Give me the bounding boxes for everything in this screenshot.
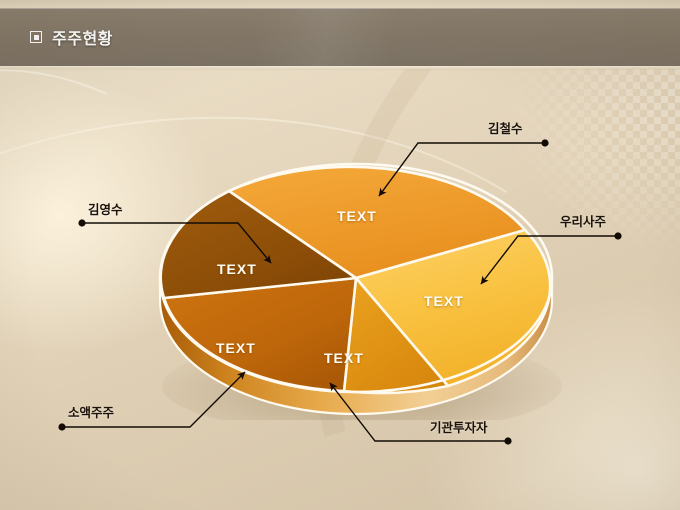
callout-label-urisaju[interactable]: 우리사주 — [560, 211, 606, 230]
callout-label-gigwan[interactable]: 기관투자자 — [430, 417, 488, 436]
square-bullet-icon — [30, 31, 42, 43]
callout-label-soaekjuju[interactable]: 소액주주 — [68, 402, 114, 421]
callout-label-kimyoungsu[interactable]: 김영수 — [88, 199, 123, 218]
page-title: 주주현황 — [30, 8, 113, 66]
header-bottom-strip — [0, 66, 680, 69]
slide-canvas: TEXT TEXT TEXT TEXT TEXT — [0, 0, 680, 510]
pie-chart: TEXT TEXT TEXT TEXT TEXT — [150, 148, 562, 418]
pie-chart-svg — [150, 148, 562, 420]
callout-label-kimcheolsu[interactable]: 김철수 — [488, 118, 523, 137]
header-top-strip — [0, 0, 680, 8]
page-title-label: 주주현황 — [52, 25, 113, 49]
